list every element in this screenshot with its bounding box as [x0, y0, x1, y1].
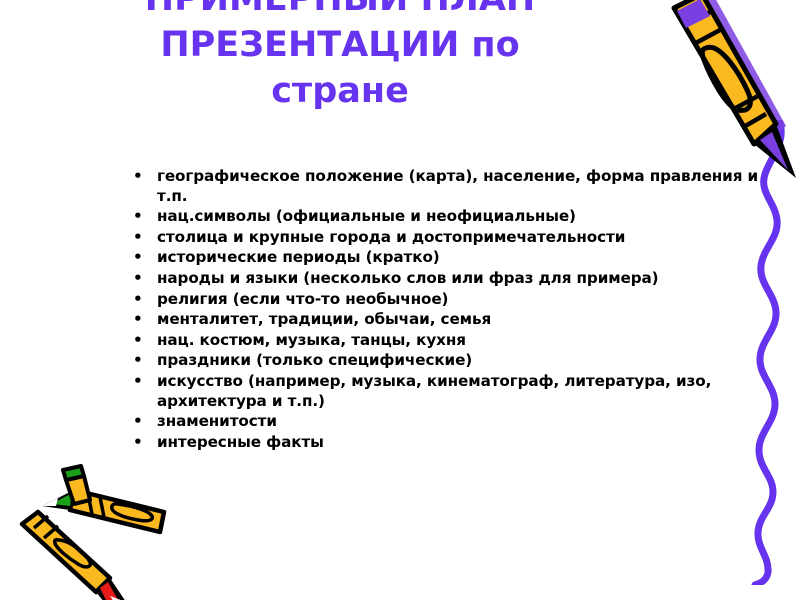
list-item: • знаменитости [128, 412, 788, 432]
list-item: • менталитет, традиции, обычаи, семья [128, 310, 788, 330]
list-item-label: столица и крупные города и достопримечат… [157, 228, 788, 248]
bullet-icon: • [133, 412, 143, 432]
list-item: • нац.символы (официальные и неофициальн… [128, 207, 788, 227]
list-item-label: праздники (только специфические) [157, 351, 788, 371]
list-item: • праздники (только специфические) [128, 351, 788, 371]
list-item: • нац. костюм, музыка, танцы, кухня [128, 331, 788, 351]
bullet-icon: • [133, 310, 143, 330]
list-item-label: исторические периоды (кратко) [157, 248, 788, 268]
list-item: • исторические периоды (кратко) [128, 248, 788, 268]
slide-canvas: ПРИМЕРНЫЙ ПЛАН ПРЕЗЕНТАЦИИ по стране • г… [0, 0, 800, 600]
title-line-2: ПРЕЗЕНТАЦИИ по [60, 22, 620, 68]
list-item-label: менталитет, традиции, обычаи, семья [157, 310, 788, 330]
page-title: ПРИМЕРНЫЙ ПЛАН ПРЕЗЕНТАЦИИ по стране [60, 0, 620, 114]
crayon-icon [636, 0, 800, 194]
list-item-label: нац. костюм, музыка, танцы, кухня [157, 331, 788, 351]
crossed-crayons-icon [14, 462, 179, 600]
list-item: • искусство (например, музыка, кинематог… [128, 372, 788, 411]
title-line-3: стране [60, 68, 620, 114]
bullet-icon: • [133, 351, 143, 371]
list-item-label: нац.символы (официальные и неофициальные… [157, 207, 788, 227]
bullet-icon: • [133, 228, 143, 248]
bullet-icon: • [133, 433, 143, 453]
title-line-1: ПРИМЕРНЫЙ ПЛАН [60, 0, 620, 22]
bullet-icon: • [133, 167, 143, 187]
list-item: • интересные факты [128, 433, 788, 453]
list-item-label: народы и языки (несколько слов или фраз … [157, 269, 788, 289]
list-item: • географическое положение (карта), насе… [128, 167, 788, 206]
list-item-label: религия (если что-то необычное) [157, 290, 788, 310]
bullet-icon: • [133, 372, 143, 392]
bullet-icon: • [133, 269, 143, 289]
list-item-label: интересные факты [157, 433, 788, 453]
list-item: • религия (если что-то необычное) [128, 290, 788, 310]
list-item: • народы и языки (несколько слов или фра… [128, 269, 788, 289]
list-item-label: знаменитости [157, 412, 788, 432]
bullet-icon: • [133, 207, 143, 227]
list-item: • столица и крупные города и достопримеч… [128, 228, 788, 248]
bullet-icon: • [133, 248, 143, 268]
bullet-icon: • [133, 331, 143, 351]
list-item-label: искусство (например, музыка, кинематогра… [157, 372, 788, 411]
content-bullet-list: • географическое положение (карта), насе… [128, 167, 788, 453]
bullet-icon: • [133, 290, 143, 310]
list-item-label: географическое положение (карта), населе… [157, 167, 788, 206]
